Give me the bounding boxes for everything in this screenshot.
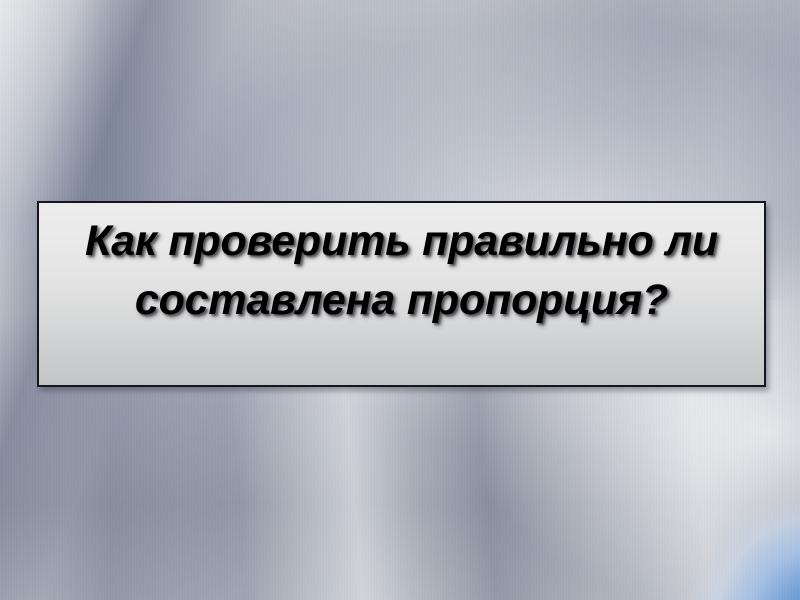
title-line-2: составлена пропорция? <box>135 271 668 329</box>
slide-canvas: Как проверить правильно ли составлена пр… <box>0 0 800 600</box>
title-line-1: Как проверить правильно ли <box>85 212 718 270</box>
title-text-box: Как проверить правильно ли составлена пр… <box>37 201 766 387</box>
